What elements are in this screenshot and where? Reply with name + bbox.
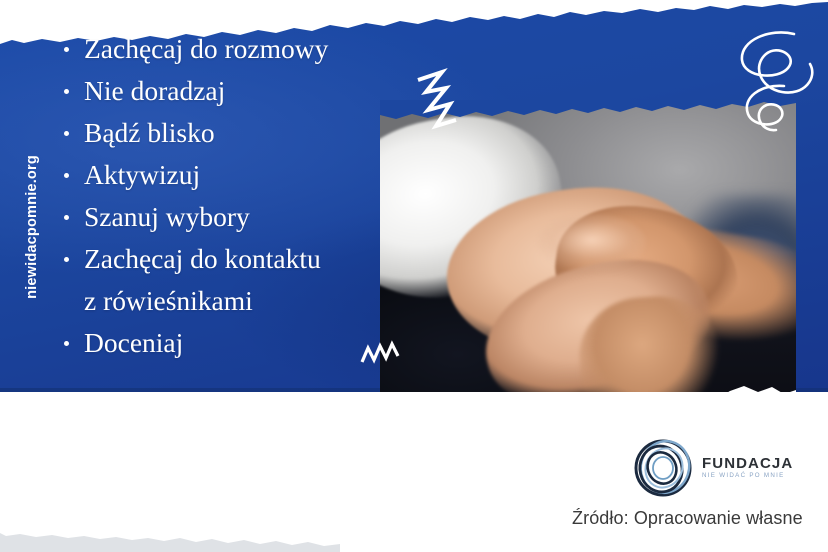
list-item: Bądź blisko (62, 112, 392, 154)
logo-title: FUNDACJA (702, 456, 793, 471)
list-item: Nie doradzaj (62, 70, 392, 112)
source-caption: Źródło: Opracowanie własne (572, 508, 803, 529)
list-item: Aktywizuj (62, 154, 392, 196)
list-item: Doceniaj (62, 322, 392, 364)
list-item: Szanuj wybory (62, 196, 392, 238)
logo-tagline: NIE WIDAĆ PO MNIE (702, 473, 793, 479)
torn-paper-edge-bottom-left (0, 500, 340, 552)
foundation-logo: FUNDACJA NIE WIDAĆ PO MNIE (632, 437, 793, 499)
poster-canvas: niewidacpomnie.org Zachęcaj do rozmowy N… (0, 0, 828, 552)
list-item: Zachęcaj do rozmowy (62, 28, 392, 70)
list-item: Zachęcaj do kontaktu z rówieśnikami (62, 238, 392, 322)
photo-background (380, 100, 796, 418)
concentric-rings-logo-icon (632, 437, 694, 499)
photo-fingers-highlight (538, 214, 646, 271)
logo-text-block: FUNDACJA NIE WIDAĆ PO MNIE (702, 456, 793, 479)
advice-bullet-list: Zachęcaj do rozmowy Nie doradzaj Bądź bl… (62, 28, 392, 364)
photo-hands-holding (380, 100, 796, 418)
vertical-website-url: niewidacpomnie.org (24, 132, 40, 322)
